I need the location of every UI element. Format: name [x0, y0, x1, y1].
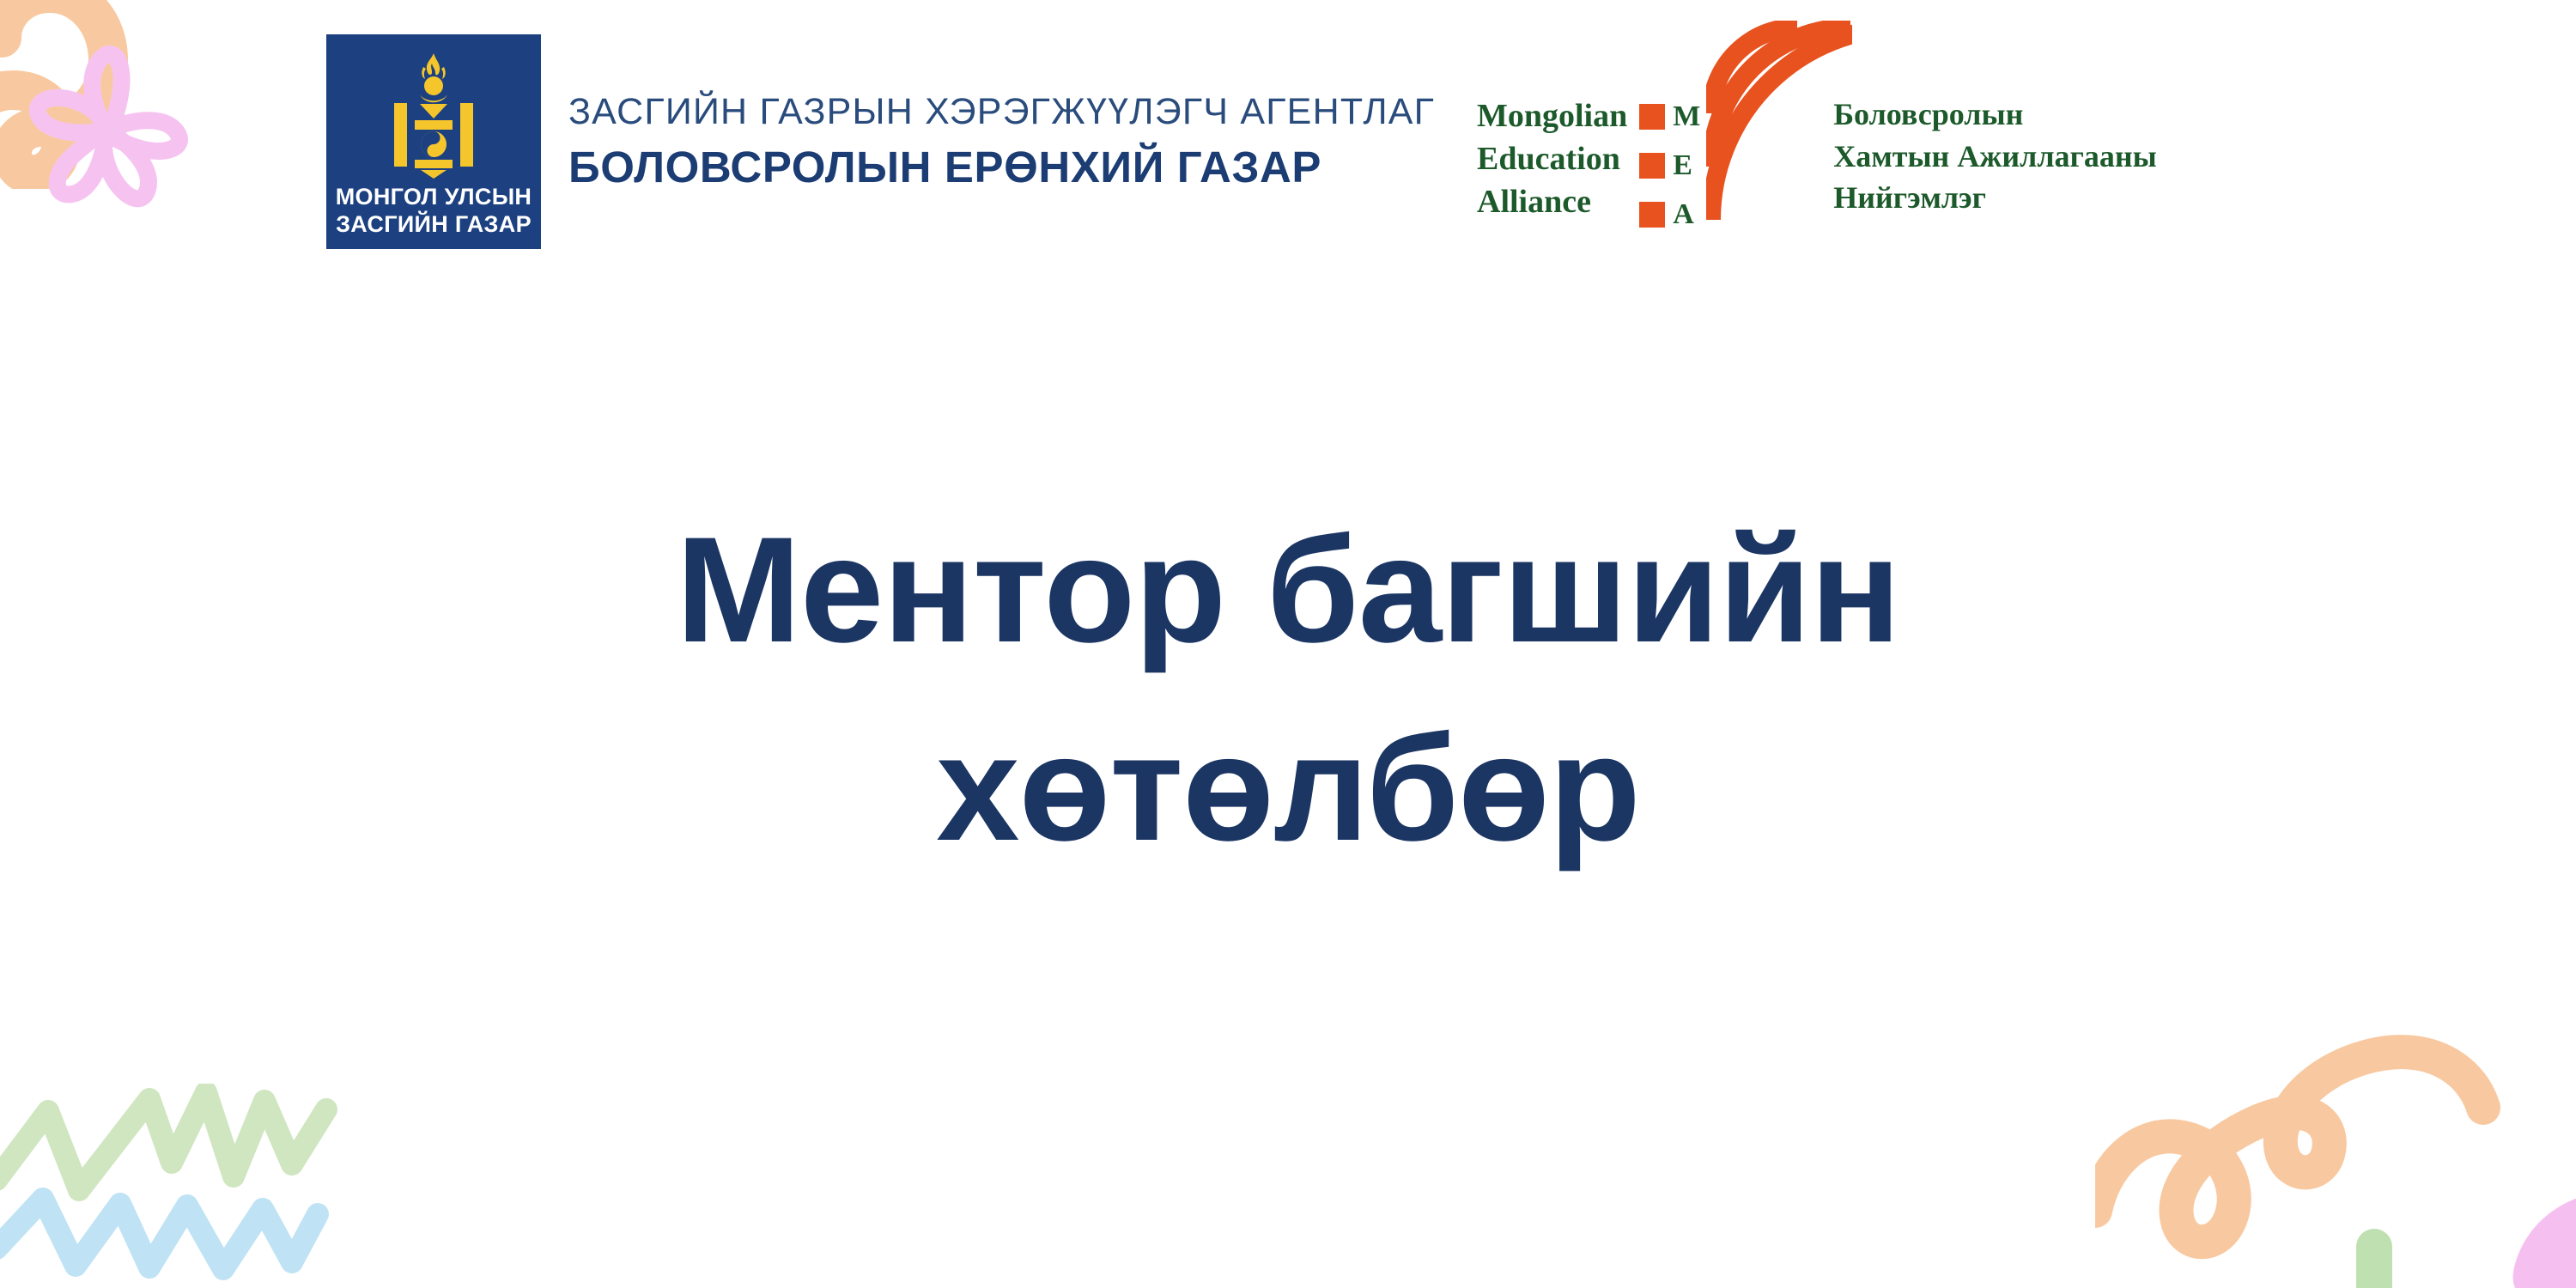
mea-char-e: E [1673, 151, 1692, 180]
agency-name: БОЛОВСРОЛЫН ЕРӨНХИЙ ГАЗАР [568, 142, 1435, 192]
mea-letter-row-e: E [1639, 151, 1700, 180]
mea-char-a: A [1673, 200, 1694, 229]
mea-char-m: M [1673, 102, 1700, 131]
mea-square-m-icon [1639, 104, 1665, 130]
mea-square-e-icon [1639, 153, 1665, 179]
curl-squiggle-icon [2095, 953, 2576, 1288]
mea-radiating-arcs-icon [1706, 21, 1852, 235]
mea-word-education: Education [1477, 137, 1627, 180]
emblem-caption-line2: ЗАСГИЙН ГАЗАР [336, 211, 532, 237]
government-logo-text: ЗАСГИЙН ГАЗРЫН ХЭРЭГЖҮҮЛЭГЧ АГЕНТЛАГ БОЛ… [568, 91, 1435, 192]
mea-square-a-icon [1639, 202, 1665, 228]
mea-mongolian-name: Боловсролын Хамтын Ажиллагааны Нийгэмлэг [1833, 94, 2157, 219]
mea-word-mongolian: Mongolian [1477, 94, 1627, 137]
mea-letter-row-a: A [1639, 200, 1700, 229]
emblem-caption: МОНГОЛ УЛСЫНЗАСГИЙН ГАЗАР [336, 184, 532, 239]
page-title-line1: Ментор багшийн [0, 491, 2576, 690]
mea-letter-stack: M E A [1639, 102, 1700, 229]
page-title: Ментор багшийн хөтөлбөр [0, 491, 2576, 888]
government-logo: МОНГОЛ УЛСЫНЗАСГИЙН ГАЗАР ЗАСГИЙН ГАЗРЫН… [326, 34, 1435, 249]
mea-emblem-mark: M E A [1639, 21, 1811, 235]
green-stroke-tip-icon [2348, 1228, 2400, 1288]
mea-letter-row-m: M [1639, 102, 1700, 131]
mea-logo: Mongolian Education Alliance M E [1477, 15, 2157, 235]
soyombo-symbol-icon [382, 50, 485, 179]
mea-word-alliance: Alliance [1477, 180, 1627, 223]
mongolia-state-emblem: МОНГОЛ УЛСЫНЗАСГИЙН ГАЗАР [326, 34, 541, 249]
emblem-caption-line1: МОНГОЛ УЛСЫН [336, 184, 532, 210]
logo-header-row: МОНГОЛ УЛСЫНЗАСГИЙН ГАЗАР ЗАСГИЙН ГАЗРЫН… [0, 0, 2576, 258]
pink-blob-icon [2473, 1194, 2576, 1288]
slide-canvas: МОНГОЛ УЛСЫНЗАСГИЙН ГАЗАР ЗАСГИЙН ГАЗРЫН… [0, 0, 2576, 1288]
zigzag-waves-icon [0, 1084, 453, 1288]
mea-wordmark: Mongolian Education Alliance [1477, 94, 1627, 223]
agency-superline: ЗАСГИЙН ГАЗРЫН ХЭРЭГЖҮҮЛЭГЧ АГЕНТЛАГ [568, 91, 1435, 133]
page-title-line2: хөтөлбөр [0, 690, 2576, 888]
